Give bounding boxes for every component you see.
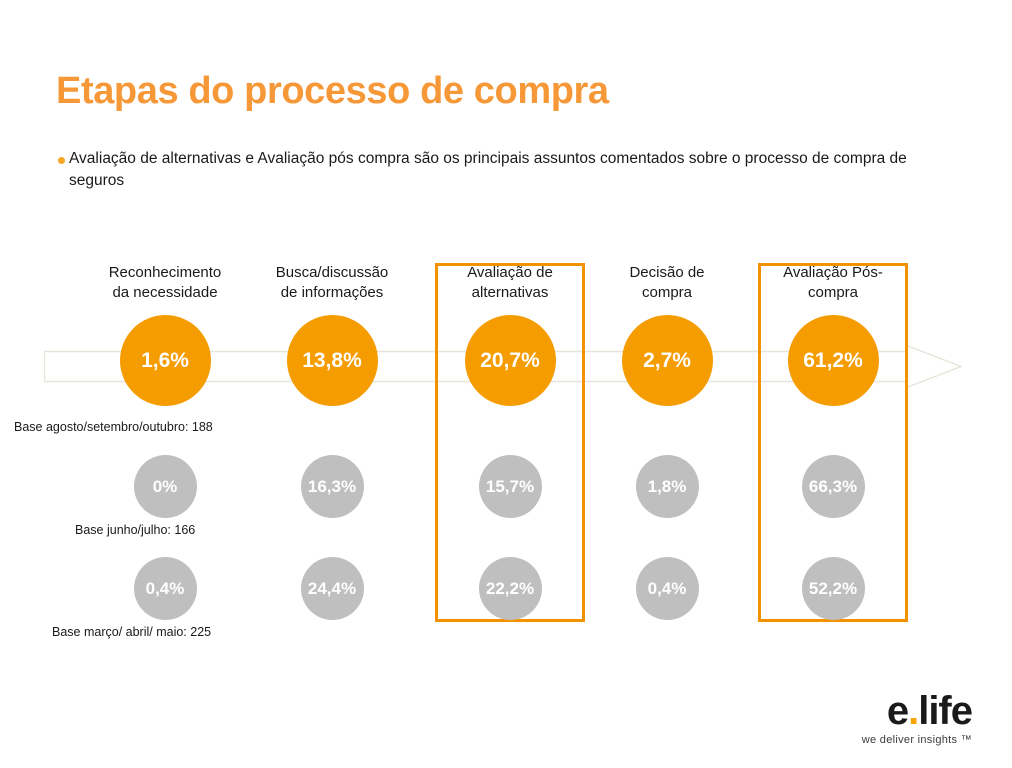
bullet-dot-icon bbox=[58, 157, 65, 164]
value-circle-row1: 13,8% bbox=[287, 315, 378, 406]
page-title: Etapas do processo de compra bbox=[56, 70, 609, 113]
value-circle-row1: 61,2% bbox=[788, 315, 879, 406]
value-circle-row2: 15,7% bbox=[479, 455, 542, 518]
row1-slot: 13,8% bbox=[257, 315, 407, 406]
value-circle-row3: 22,2% bbox=[479, 557, 542, 620]
stage-column-decisao-compra: Decisão de compra 2,7% 1,8% 0,4% bbox=[592, 263, 742, 307]
slide-canvas: Etapas do processo de compra Avaliação d… bbox=[0, 0, 1012, 768]
stage-header-line1: Busca/discussão bbox=[257, 263, 407, 283]
row3-slot: 52,2% bbox=[758, 557, 908, 620]
logo-wordmark: e.life bbox=[862, 690, 972, 732]
value-circle-row1: 2,7% bbox=[622, 315, 713, 406]
subtitle-text: Avaliação de alternativas e Avaliação pó… bbox=[69, 148, 938, 192]
base-label-row2: Base junho/julho: 166 bbox=[75, 523, 195, 537]
stage-column-avaliacao-alternativas: Avaliação de alternativas 20,7% 15,7% 22… bbox=[435, 263, 585, 307]
logo-word-life: life bbox=[918, 689, 972, 733]
row3-slot: 22,2% bbox=[435, 557, 585, 620]
row2-slot: 16,3% bbox=[257, 455, 407, 518]
logo-dot-icon: . bbox=[908, 689, 918, 733]
value-circle-row2: 66,3% bbox=[802, 455, 865, 518]
value-circle-row2: 16,3% bbox=[301, 455, 364, 518]
elife-logo: e.life we deliver insights ™ bbox=[862, 690, 972, 746]
stage-header-line2: compra bbox=[592, 283, 742, 303]
row2-slot: 66,3% bbox=[758, 455, 908, 518]
stage-column-avaliacao-pos-compra: Avaliação Pós- compra 61,2% 66,3% 52,2% bbox=[758, 263, 908, 307]
base-label-row1: Base agosto/setembro/outubro: 188 bbox=[14, 420, 213, 434]
stage-header: Decisão de compra bbox=[592, 263, 742, 307]
value-circle-row3: 24,4% bbox=[301, 557, 364, 620]
stage-header-line1: Avaliação de bbox=[435, 263, 585, 283]
row2-slot: 1,8% bbox=[592, 455, 742, 518]
logo-tagline: we deliver insights ™ bbox=[862, 734, 972, 746]
row2-slot: 0% bbox=[90, 455, 240, 518]
stage-header: Avaliação de alternativas bbox=[435, 263, 585, 307]
row1-slot: 20,7% bbox=[435, 315, 585, 406]
stage-header-line1: Reconhecimento bbox=[90, 263, 240, 283]
value-circle-row3: 52,2% bbox=[802, 557, 865, 620]
row3-slot: 0,4% bbox=[90, 557, 240, 620]
row2-slot: 15,7% bbox=[435, 455, 585, 518]
base-label-row3: Base março/ abril/ maio: 225 bbox=[52, 625, 211, 639]
logo-word-e: e bbox=[887, 689, 908, 733]
stage-header-line2: da necessidade bbox=[90, 283, 240, 303]
stage-header-line2: alternativas bbox=[435, 283, 585, 303]
value-circle-row3: 0,4% bbox=[636, 557, 699, 620]
stage-header-line2: de informações bbox=[257, 283, 407, 303]
row3-slot: 24,4% bbox=[257, 557, 407, 620]
stage-header: Avaliação Pós- compra bbox=[758, 263, 908, 307]
stage-column-busca-discussao: Busca/discussão de informações 13,8% 16,… bbox=[257, 263, 407, 307]
stage-header: Busca/discussão de informações bbox=[257, 263, 407, 307]
row1-slot: 61,2% bbox=[758, 315, 908, 406]
stage-header-line1: Decisão de bbox=[592, 263, 742, 283]
value-circle-row3: 0,4% bbox=[134, 557, 197, 620]
value-circle-row1: 1,6% bbox=[120, 315, 211, 406]
value-circle-row1: 20,7% bbox=[465, 315, 556, 406]
value-circle-row2: 0% bbox=[134, 455, 197, 518]
stage-header: Reconhecimento da necessidade bbox=[90, 263, 240, 307]
subtitle-block: Avaliação de alternativas e Avaliação pó… bbox=[58, 148, 938, 192]
stage-header-line1: Avaliação Pós- bbox=[758, 263, 908, 283]
stage-header-line2: compra bbox=[758, 283, 908, 303]
value-circle-row2: 1,8% bbox=[636, 455, 699, 518]
row1-slot: 1,6% bbox=[90, 315, 240, 406]
row3-slot: 0,4% bbox=[592, 557, 742, 620]
row1-slot: 2,7% bbox=[592, 315, 742, 406]
stage-column-reconhecimento: Reconhecimento da necessidade 1,6% 0% 0,… bbox=[90, 263, 240, 307]
